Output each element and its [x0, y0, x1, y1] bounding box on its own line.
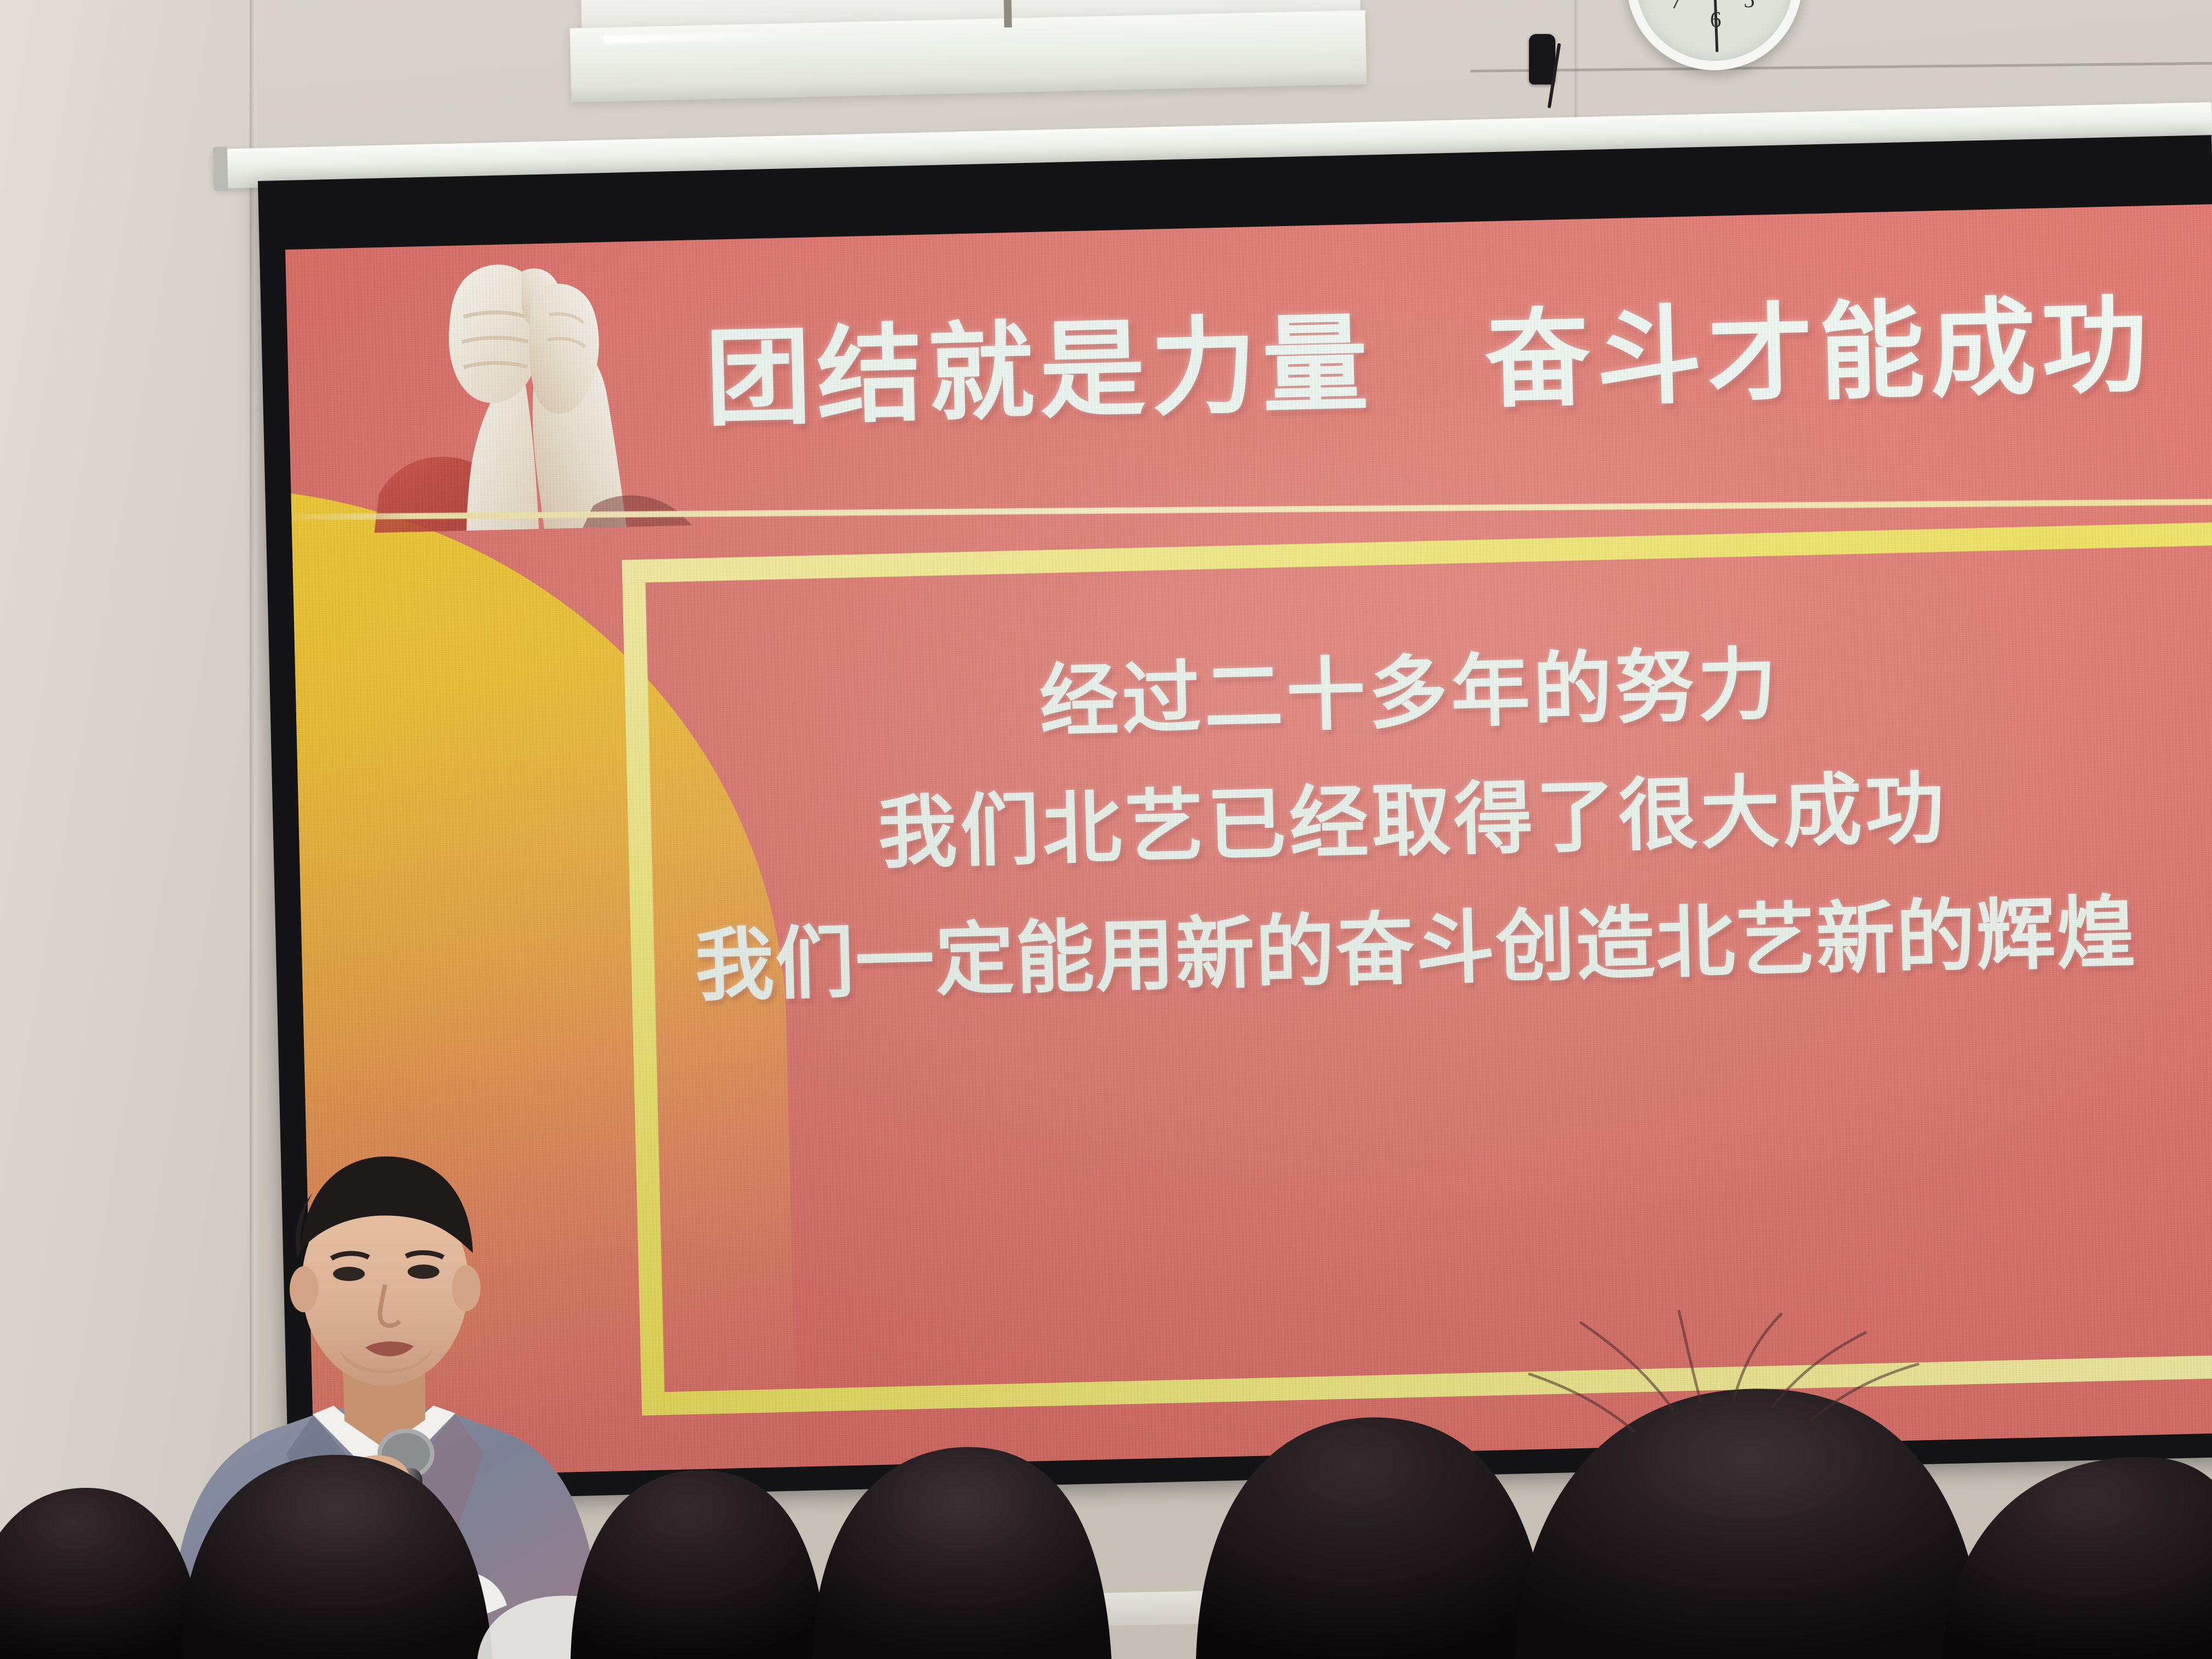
clasped-hands-icon: [356, 229, 714, 533]
slide-title: 团结就是力量 奋斗才能成功: [704, 287, 2212, 436]
clock-number-7: 7: [1671, 0, 1682, 14]
audience-foreground: [0, 1306, 2212, 1659]
classroom-photo-scene: 4 5 6 7 8: [0, 0, 2212, 1659]
light-bracket: [1003, 0, 1012, 27]
wall-sensor-device: [1529, 34, 1555, 84]
screen-roller-endcap: [213, 146, 228, 191]
clock-number-5: 5: [1743, 0, 1755, 13]
slide-body-text: 经过二十多年的努力 我们北艺已经取得了很大成功 我们一定能用新的奋斗创造北艺新的…: [476, 607, 2212, 1035]
